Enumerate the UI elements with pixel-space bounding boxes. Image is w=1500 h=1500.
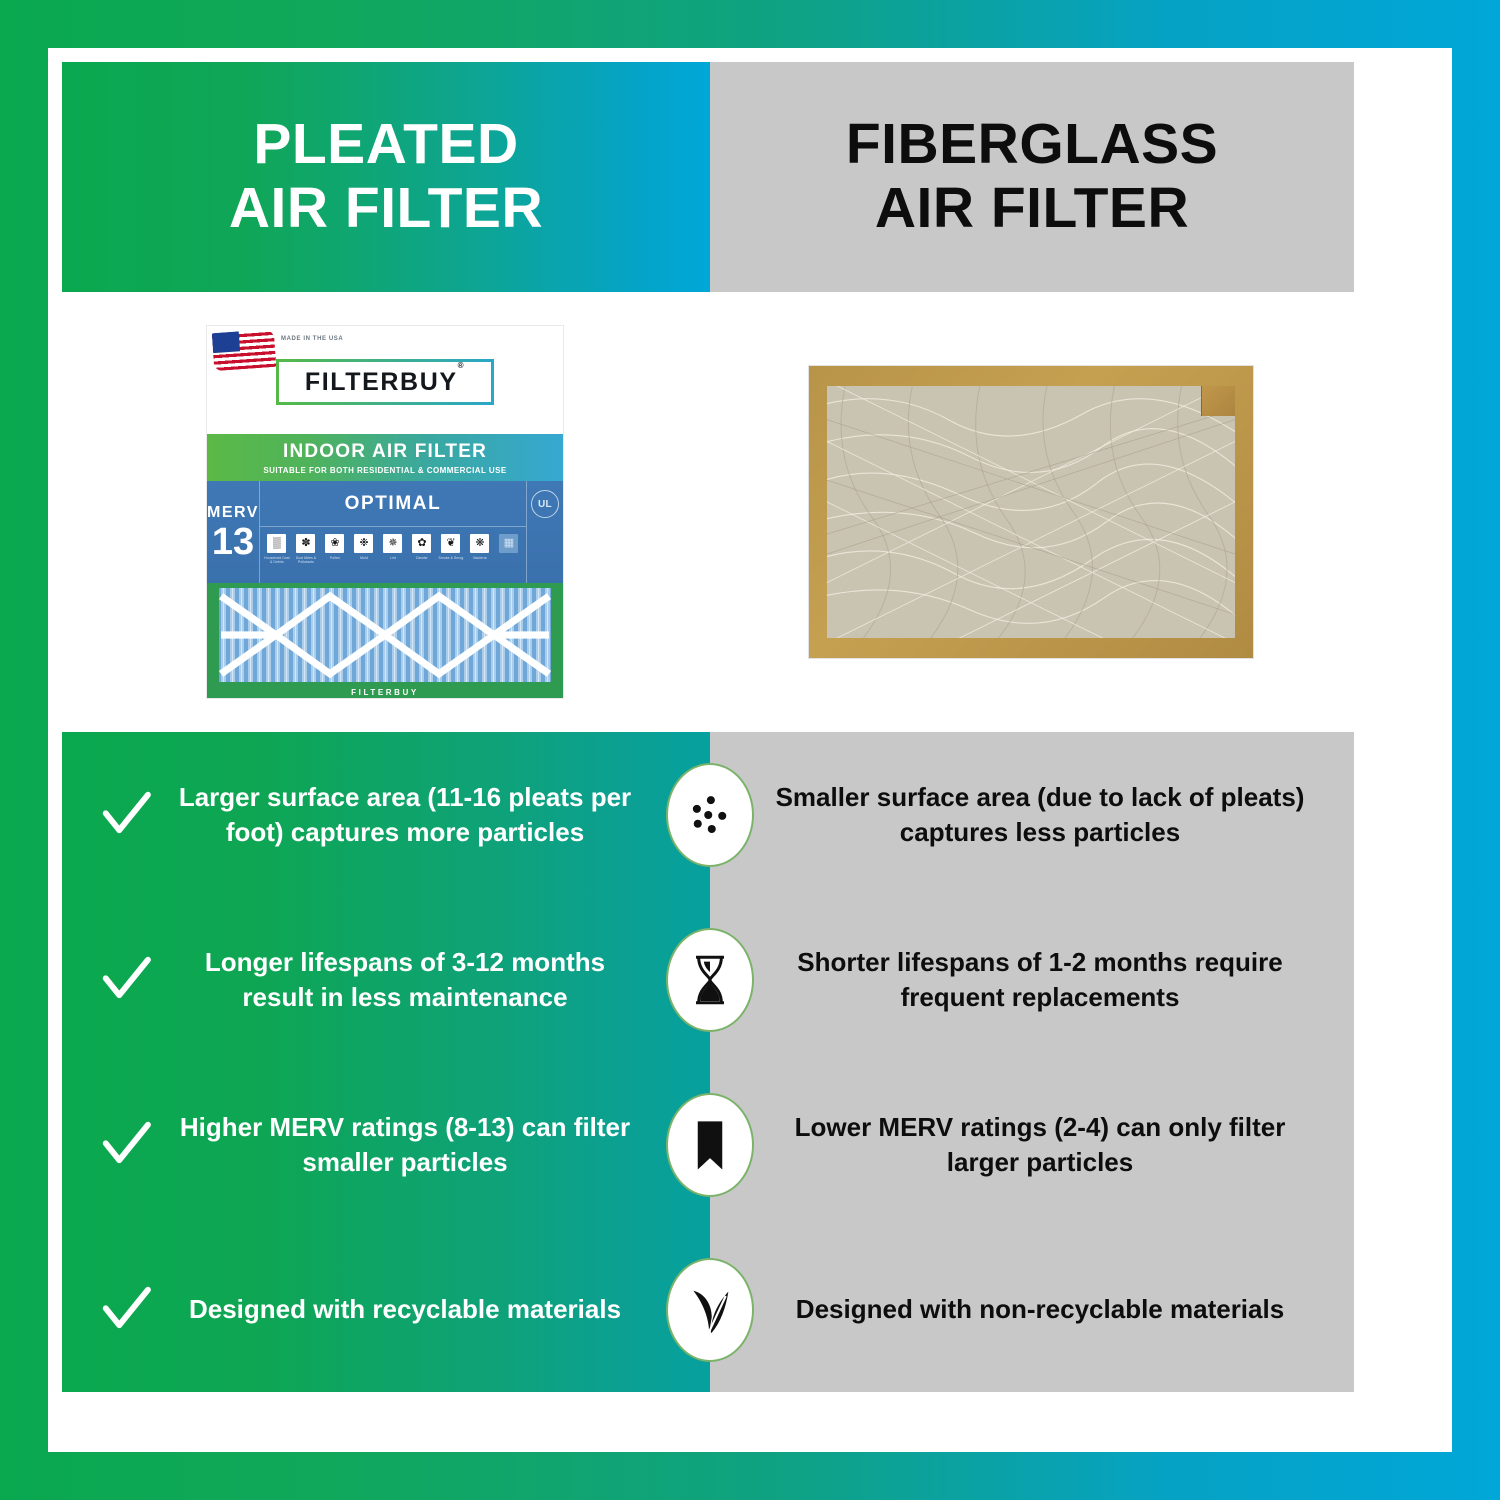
check-glyph-icon	[99, 953, 153, 1007]
merv-value: 13	[212, 523, 254, 561]
package-green-band: INDOOR AIR FILTER SUITABLE FOR BOTH RESI…	[207, 434, 563, 481]
pleated-media-surface	[219, 588, 551, 682]
package-feature-icon-3: ❀Pollen	[322, 534, 348, 560]
package-feature-icon-1: ▒Household Dust & Debris	[264, 534, 290, 564]
comparison-left-cell: Designed with recyclable materials	[62, 1280, 710, 1340]
hourglass-icon	[682, 952, 738, 1008]
header-pleated-line2: AIR FILTER	[229, 177, 543, 241]
package-feature-icon-4: ❉Mold	[351, 534, 377, 560]
feature-glyph-icon: ✿	[412, 534, 431, 553]
comparison-icon-badge	[666, 928, 754, 1032]
made-in-usa-label: MADE IN THE USA	[281, 335, 343, 343]
comparison-right-text: Lower MERV ratings (2-4) can only filter…	[760, 1110, 1320, 1179]
feature-glyph-icon: ❀	[325, 534, 344, 553]
frame-corner-detail	[1201, 386, 1235, 416]
package-feature-icon-8: ❋Bacteria	[467, 534, 493, 560]
header-band: PLEATED AIR FILTER FIBERGLASS AIR FILTER	[62, 62, 1354, 292]
comparison-right-text: Shorter lifespans of 1-2 months require …	[760, 945, 1320, 1014]
check-glyph-icon	[99, 1283, 153, 1337]
comparison-right-cell: Designed with non-recyclable materials	[710, 1292, 1354, 1326]
header-pleated: PLEATED AIR FILTER	[62, 62, 710, 292]
fiberglass-filter-image	[809, 366, 1253, 658]
feature-glyph-icon: ✽	[296, 534, 315, 553]
comparison-right-text: Smaller surface area (due to lack of ple…	[760, 780, 1320, 849]
comparison-rows: Larger surface area (11-16 pleats per fo…	[62, 732, 1354, 1392]
leaf-icon	[682, 1282, 738, 1338]
ul-certification-icon: UL	[531, 490, 559, 518]
header-fiberglass-title: FIBERGLASS AIR FILTER	[846, 113, 1218, 241]
checkmark-icon	[96, 950, 156, 1010]
feature-glyph-icon: ▦	[499, 534, 518, 553]
comparison-left-text: Designed with recyclable materials	[170, 1292, 694, 1326]
comparison-left-text: Longer lifespans of 3-12 months result i…	[170, 945, 694, 1014]
fiberglass-mesh-media	[827, 386, 1235, 638]
package-feature-icon-5: ✵Lint	[380, 534, 406, 560]
checkmark-icon	[96, 1115, 156, 1175]
comparison-right-cell: Shorter lifespans of 1-2 months require …	[710, 945, 1354, 1014]
package-blue-band: MERV 13 OPTIMAL ▒Household Dust & Debris…	[207, 481, 563, 583]
checkmark-icon	[96, 1280, 156, 1340]
bookmark-icon	[682, 1117, 738, 1173]
brand-registered-mark: ®	[458, 361, 466, 370]
comparison-icon-badge	[666, 763, 754, 867]
comparison-right-cell: Smaller surface area (due to lack of ple…	[710, 780, 1354, 849]
infographic-page: PLEATED AIR FILTER FIBERGLASS AIR FILTER…	[0, 0, 1500, 1500]
header-pleated-line1: PLEATED	[229, 113, 543, 177]
certification-block: UL	[526, 481, 563, 583]
feature-glyph-icon: ❋	[470, 534, 489, 553]
comparison-row: Designed with recyclable materialsDesign…	[62, 1227, 1354, 1392]
package-tier-label: OPTIMAL	[260, 481, 526, 527]
comparison-left-text: Higher MERV ratings (8-13) can filter sm…	[170, 1110, 694, 1179]
package-feature-icon-row: ▒Household Dust & Debris✽Dust Mites & Po…	[260, 527, 526, 583]
usa-flag-icon	[212, 329, 276, 371]
package-band-subtitle: SUITABLE FOR BOTH RESIDENTIAL & COMMERCI…	[263, 466, 506, 475]
check-glyph-icon	[99, 788, 153, 842]
feature-glyph-icon: ▒	[267, 534, 286, 553]
merv-rating-block: MERV 13	[207, 481, 260, 583]
pleated-filter-package-image: MADE IN THE USA FILTERBUY® INDOOR AIR FI…	[207, 326, 563, 698]
pleated-media-photo: FILTERBUY	[207, 583, 563, 698]
comparison-right-text: Designed with non-recyclable materials	[760, 1292, 1320, 1326]
package-feature-icon-7: ❦Smoke & Smog	[438, 534, 464, 560]
feature-caption: Smoke & Smog	[439, 556, 464, 560]
comparison-left-cell: Larger surface area (11-16 pleats per fo…	[62, 780, 710, 849]
package-band-title: INDOOR AIR FILTER	[283, 441, 487, 463]
feature-caption: Dander	[416, 556, 428, 560]
feature-glyph-icon: ❉	[354, 534, 373, 553]
product-images-row: MADE IN THE USA FILTERBUY® INDOOR AIR FI…	[62, 292, 1354, 732]
check-glyph-icon	[99, 1118, 153, 1172]
feature-caption: Mold	[360, 556, 368, 560]
package-feature-icon-2: ✽Dust Mites & Pollutants	[293, 534, 319, 564]
fiberglass-product-cell	[708, 292, 1354, 732]
pleated-product-cell: MADE IN THE USA FILTERBUY® INDOOR AIR FI…	[62, 292, 708, 732]
brand-logo-frame: FILTERBUY®	[276, 359, 494, 405]
comparison-left-text: Larger surface area (11-16 pleats per fo…	[170, 780, 694, 849]
comparison-row: Higher MERV ratings (8-13) can filter sm…	[62, 1062, 1354, 1227]
header-fiberglass-line1: FIBERGLASS	[846, 113, 1218, 177]
feature-caption: Household Dust & Debris	[264, 556, 290, 565]
header-fiberglass-line2: AIR FILTER	[846, 177, 1218, 241]
comparison-icon-badge	[666, 1258, 754, 1362]
support-grid-icon	[219, 588, 551, 682]
brand-logo-name: FILTERBUY	[305, 368, 458, 396]
feature-caption: Pollen	[330, 556, 340, 560]
comparison-icon-badge	[666, 1093, 754, 1197]
comparison-row: Larger surface area (11-16 pleats per fo…	[62, 732, 1354, 897]
comparison-section: Larger surface area (11-16 pleats per fo…	[62, 732, 1354, 1392]
brand-logo-text: FILTERBUY®	[305, 368, 465, 397]
header-pleated-title: PLEATED AIR FILTER	[229, 113, 543, 241]
fiber-strands-icon	[827, 386, 1235, 638]
package-feature-icon-9: ▦	[496, 534, 522, 556]
feature-caption: Lint	[390, 556, 396, 560]
package-feature-icon-6: ✿Dander	[409, 534, 435, 560]
comparison-right-cell: Lower MERV ratings (2-4) can only filter…	[710, 1110, 1354, 1179]
feature-caption: Dust Mites & Pollutants	[293, 556, 319, 565]
comparison-row: Longer lifespans of 3-12 months result i…	[62, 897, 1354, 1062]
feature-glyph-icon: ❦	[441, 534, 460, 553]
feature-caption: Bacteria	[473, 556, 486, 560]
package-top-strip: MADE IN THE USA FILTERBUY®	[207, 326, 563, 434]
particles-icon	[682, 787, 738, 843]
comparison-left-cell: Longer lifespans of 3-12 months result i…	[62, 945, 710, 1014]
comparison-left-cell: Higher MERV ratings (8-13) can filter sm…	[62, 1110, 710, 1179]
feature-glyph-icon: ✵	[383, 534, 402, 553]
merv-label: MERV	[207, 504, 259, 522]
checkmark-icon	[96, 785, 156, 845]
package-bottom-brand: FILTERBUY	[207, 688, 563, 697]
package-center-block: OPTIMAL ▒Household Dust & Debris✽Dust Mi…	[260, 481, 526, 583]
header-fiberglass: FIBERGLASS AIR FILTER	[710, 62, 1354, 292]
